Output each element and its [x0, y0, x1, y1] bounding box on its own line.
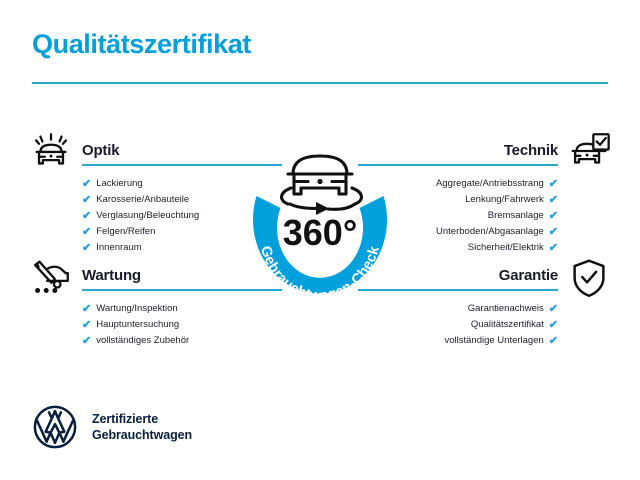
section-list-garantie: Garantienachweis✔Qualitätszertifikat✔vol…: [358, 301, 558, 349]
section-divider-optik: [82, 164, 282, 166]
checklist-item-label: Sicherheit/Elektrik: [468, 240, 544, 256]
footer-brand: Zertifizierte Gebrauchtwagen: [32, 404, 192, 450]
certificate-page: Qualitätszertifikat: [0, 0, 640, 480]
checklist-item: ✔Wartung/Inspektion: [82, 301, 282, 317]
checklist-item-label: Bremsanlage: [488, 208, 544, 224]
section-garantie: Garantie Garantienachweis✔Qualitätszerti…: [358, 268, 558, 349]
checklist-item-label: Karosserie/Anbauteile: [96, 192, 189, 208]
check-icon: ✔: [82, 336, 91, 347]
checklist-item: Qualitätszertifikat✔: [358, 317, 558, 333]
checklist-item-label: Wartung/Inspektion: [96, 301, 178, 317]
check-icon: ✔: [549, 227, 558, 238]
check-icon: ✔: [82, 179, 91, 190]
section-divider-wartung: [82, 289, 282, 291]
car-shine-icon: [28, 128, 74, 174]
check-icon: ✔: [549, 320, 558, 331]
car-checkbox-icon: [566, 128, 612, 174]
checklist-item: Lenkung/Fahrwerk✔: [358, 192, 558, 208]
check-icon: ✔: [549, 195, 558, 206]
checklist-item: Sicherheit/Elektrik✔: [358, 240, 558, 256]
checklist-item-label: Lenkung/Fahrwerk: [465, 192, 544, 208]
section-heading-wartung: Wartung: [82, 268, 282, 283]
checklist-item-label: Aggregate/Antriebsstrang: [436, 176, 544, 192]
check-icon: ✔: [82, 211, 91, 222]
checklist-item-label: Verglasung/Beleuchtung: [96, 208, 199, 224]
section-list-wartung: ✔Wartung/Inspektion✔Hauptuntersuchung✔vo…: [82, 301, 282, 349]
check-icon: ✔: [82, 320, 91, 331]
check-icon: ✔: [549, 179, 558, 190]
section-heading-technik: Technik: [358, 143, 558, 158]
checklist-item: ✔Felgen/Reifen: [82, 224, 282, 240]
checklist-item: ✔Karosserie/Anbauteile: [82, 192, 282, 208]
checklist-item: Bremsanlage✔: [358, 208, 558, 224]
title-divider: [32, 82, 608, 84]
checklist-item-label: Hauptuntersuchung: [96, 317, 179, 333]
checklist-item: Aggregate/Antriebsstrang✔: [358, 176, 558, 192]
check-icon: ✔: [82, 227, 91, 238]
checklist-item: Unterboden/Abgasanlage✔: [358, 224, 558, 240]
check-icon: ✔: [82, 304, 91, 315]
shield-check-icon: [566, 255, 612, 301]
wrench-car-icon: [28, 255, 74, 301]
footer-text: Zertifizierte Gebrauchtwagen: [92, 411, 192, 443]
section-list-technik: Aggregate/Antriebsstrang✔Lenkung/Fahrwer…: [358, 176, 558, 256]
badge-center-value: 360°: [283, 212, 357, 253]
page-title: Qualitätszertifikat: [32, 30, 251, 60]
checklist-item-label: Garantienachweis: [468, 301, 544, 317]
section-divider-garantie: [358, 289, 558, 291]
checklist-item-label: Unterboden/Abgasanlage: [436, 224, 544, 240]
volkswagen-logo-icon: [32, 404, 78, 450]
checklist-item: ✔Verglasung/Beleuchtung: [82, 208, 282, 224]
footer-line-1: Zertifizierte: [92, 411, 192, 427]
check-icon: ✔: [549, 211, 558, 222]
checklist-item-label: vollständiges Zubehör: [96, 333, 189, 349]
check-icon: ✔: [549, 304, 558, 315]
check-icon: ✔: [82, 243, 91, 254]
footer-line-2: Gebrauchtwagen: [92, 427, 192, 443]
section-heading-optik: Optik: [82, 143, 282, 158]
section-optik: Optik ✔Lackierung✔Karosserie/Anbauteile✔…: [82, 143, 282, 256]
checklist-item-label: vollständige Unterlagen: [444, 333, 543, 349]
checklist-item: ✔Innenraum: [82, 240, 282, 256]
checklist-item: Garantienachweis✔: [358, 301, 558, 317]
check-icon: ✔: [549, 336, 558, 347]
section-heading-garantie: Garantie: [358, 268, 558, 283]
checklist-item: ✔vollständiges Zubehör: [82, 333, 282, 349]
section-technik: Technik Aggregate/Antriebsstrang✔Lenkung…: [358, 143, 558, 256]
check-icon: ✔: [549, 243, 558, 254]
checklist-item: ✔Hauptuntersuchung: [82, 317, 282, 333]
check-icon: ✔: [82, 195, 91, 206]
checklist-item-label: Innenraum: [96, 240, 141, 256]
checklist-item-label: Lackierung: [96, 176, 142, 192]
checklist-item: vollständige Unterlagen✔: [358, 333, 558, 349]
checklist-item-label: Qualitätszertifikat: [471, 317, 544, 333]
section-divider-technik: [358, 164, 558, 166]
checklist-item-label: Felgen/Reifen: [96, 224, 155, 240]
section-list-optik: ✔Lackierung✔Karosserie/Anbauteile✔Vergla…: [82, 176, 282, 256]
checklist-item: ✔Lackierung: [82, 176, 282, 192]
section-wartung: Wartung ✔Wartung/Inspektion✔Hauptuntersu…: [82, 268, 282, 349]
